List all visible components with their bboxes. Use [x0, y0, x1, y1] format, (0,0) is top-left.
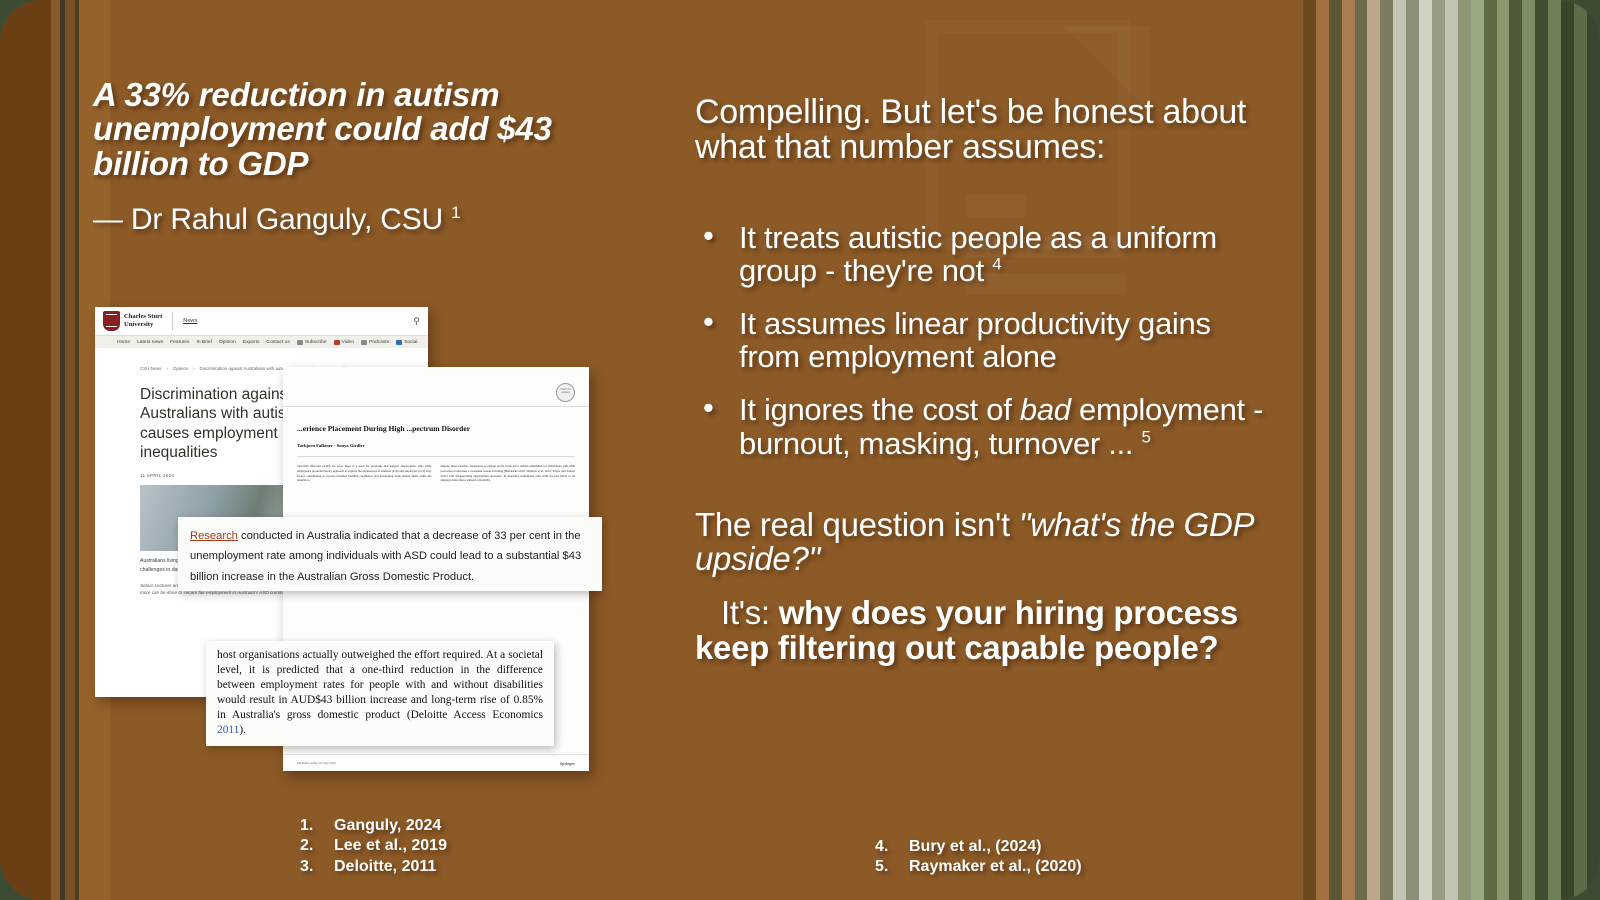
csu-nav-item[interactable]: Video [334, 340, 354, 345]
footnote-number: 3. [300, 857, 334, 877]
csu-org-name: Charles Sturt University [124, 313, 162, 329]
lede-paragraph: Compelling. But let's be honest about wh… [695, 95, 1270, 166]
csu-org-line-2: University [124, 321, 162, 329]
stripe [1535, 0, 1548, 900]
paper-columns: Spectrum Disorder (ASD) are poor, there … [283, 457, 589, 483]
stripe [1355, 0, 1368, 900]
footnote-item: 2.Lee et al., 2019 [300, 836, 447, 856]
stripe [0, 0, 51, 900]
paper-column-left: Spectrum Disorder (ASD) are poor, there … [297, 464, 432, 483]
csu-shield-icon [103, 311, 120, 331]
breadcrumb-separator-icon: › [193, 366, 194, 371]
footnotes-left: 1.Ganguly, 20242.Lee et al., 20193.Deloi… [300, 816, 447, 877]
footnote-number: 4. [875, 837, 909, 857]
assumption-bullet: It treats autistic people as a uniform g… [695, 221, 1270, 287]
headline-quote: A 33% reduction in autism unemployment c… [93, 78, 638, 181]
nav-badge-icon [361, 340, 367, 345]
csu-header: Charles Sturt University News ⚲ [95, 307, 428, 335]
footnote-item: 4.Bury et al., (2024) [875, 837, 1082, 857]
citation-year-link[interactable]: 2011 [217, 724, 239, 736]
csu-nav-item[interactable]: In Brief [196, 340, 212, 345]
assumption-bullet: It assumes linear productivity gains fro… [695, 307, 1270, 373]
stripe [1393, 0, 1406, 900]
paper-excerpt-callout: host organisations actually outweighed t… [206, 641, 554, 746]
stripe [1458, 0, 1471, 900]
check-for-updates-icon: Check for updates [556, 383, 575, 402]
stripe [1574, 0, 1587, 900]
research-link[interactable]: Research [190, 530, 238, 542]
breadcrumb-item[interactable]: CSU News [140, 366, 161, 371]
headline-attribution: — Dr Rahul Ganguly, CSU 1 [93, 203, 638, 236]
breadcrumb-item[interactable]: Opinion [173, 366, 188, 371]
csu-nav-item[interactable]: Home [117, 340, 130, 345]
stripe [1342, 0, 1355, 900]
stripe [1419, 0, 1432, 900]
stripe [1290, 0, 1303, 900]
csu-nav-item[interactable]: Experts [243, 340, 260, 345]
paper-header: Check for updates [283, 367, 589, 407]
paper-publish-note: Published online: 01 May 2019 [297, 761, 336, 765]
footnotes-right: 4.Bury et al., (2024)5.Raymaker et al., … [875, 837, 1082, 878]
paper-column-right: Despite these benefits, aspirations to e… [441, 464, 576, 483]
left-column: A 33% reduction in autism unemployment c… [93, 78, 638, 236]
headline-text-1: A 33% reduction in autism unemployment c… [93, 76, 499, 147]
stripe [1316, 0, 1329, 900]
stripe [1497, 0, 1510, 900]
search-icon[interactable]: ⚲ [413, 316, 420, 327]
footnote-item: 1.Ganguly, 2024 [300, 816, 447, 836]
stripe [1561, 0, 1574, 900]
closing-answer: It's: why does your hiring process keep … [695, 596, 1270, 665]
csu-nav-label: Subscribe [305, 340, 327, 345]
stripe [1484, 0, 1497, 900]
breadcrumb-separator-icon: › [166, 366, 167, 371]
csu-nav-item[interactable]: Contact us [266, 340, 289, 345]
closing-plain: The real question isn't [695, 506, 1019, 543]
footnote-number: 1. [300, 816, 334, 836]
csu-logo[interactable]: Charles Sturt University [103, 311, 162, 331]
footnote-number: 5. [875, 857, 909, 877]
paper-footer: Published online: 01 May 2019 Springer [283, 754, 589, 771]
csu-nav-item[interactable]: Latest news [137, 340, 163, 345]
footnote-text: Deloitte, 2011 [334, 857, 436, 877]
excerpt-text-end: ). [239, 724, 246, 736]
csu-nav-item[interactable]: Social [396, 340, 417, 345]
callout-text: conducted in Australia indicated that a … [190, 530, 581, 583]
csu-nav-label: Podcasts [369, 340, 389, 345]
footnote-text: Lee et al., 2019 [334, 836, 447, 856]
stripe [1432, 0, 1445, 900]
header-divider [172, 313, 173, 330]
csu-nav-item[interactable]: Features [170, 340, 189, 345]
right-stripe-band [1290, 0, 1600, 900]
csu-news-link[interactable]: News [183, 318, 197, 324]
footnote-text: Ganguly, 2024 [334, 816, 441, 836]
attribution-text: — Dr Rahul Ganguly, CSU [93, 203, 443, 236]
stripe [1509, 0, 1522, 900]
csu-nav-bar[interactable]: HomeLatest newsFeaturesIn BriefOpinionEx… [95, 335, 428, 348]
right-column: Compelling. But let's be honest about wh… [695, 95, 1270, 665]
attribution-footnote-ref: 1 [451, 203, 460, 222]
stripe [1303, 0, 1316, 900]
stripe [65, 0, 75, 900]
footnote-text: Bury et al., (2024) [909, 837, 1042, 857]
stripe [1587, 0, 1600, 900]
highlighted-quote-callout: Research conducted in Australia indicate… [178, 517, 602, 591]
paper-title: ...erience Placement During High ...pect… [297, 423, 552, 434]
stripe [1367, 0, 1380, 900]
csu-nav-label: Video [342, 340, 354, 345]
csu-nav-item[interactable]: Subscribe [297, 340, 327, 345]
footnote-item: 3.Deloitte, 2011 [300, 857, 447, 877]
nav-badge-icon [297, 340, 303, 345]
nav-badge-icon [334, 340, 340, 345]
assumption-bullet: It ignores the cost of bad employment - … [695, 393, 1270, 459]
headline-text-2: to GDP [189, 145, 309, 182]
stripe [1380, 0, 1393, 900]
footnote-text: Raymaker et al., (2020) [909, 857, 1082, 877]
slide-canvas: A 33% reduction in autism unemployment c… [0, 0, 1600, 900]
excerpt-text: host organisations actually outweighed t… [217, 649, 543, 721]
csu-nav-item[interactable]: Opinion [219, 340, 236, 345]
footnote-item: 5.Raymaker et al., (2020) [875, 857, 1082, 877]
springer-logo: Springer [560, 761, 575, 766]
closing-answer-plain: It's: [721, 594, 779, 631]
csu-nav-item[interactable]: Podcasts [361, 340, 389, 345]
stripe [1329, 0, 1342, 900]
stripe [1445, 0, 1458, 900]
assumption-bullet-list: It treats autistic people as a uniform g… [695, 221, 1270, 460]
footnote-number: 2. [300, 836, 334, 856]
stripe [1406, 0, 1419, 900]
csu-org-line-1: Charles Sturt [124, 313, 162, 321]
stripe [51, 0, 61, 900]
csu-nav-label: Social [404, 340, 417, 345]
closing-question: The real question isn't "what's the GDP … [695, 508, 1270, 577]
stripe [1471, 0, 1484, 900]
stripe [1548, 0, 1561, 900]
paper-authors: Torbjorn Falkmer · Sonya Girdler [297, 443, 589, 448]
nav-badge-icon [396, 340, 402, 345]
stripe [1522, 0, 1535, 900]
